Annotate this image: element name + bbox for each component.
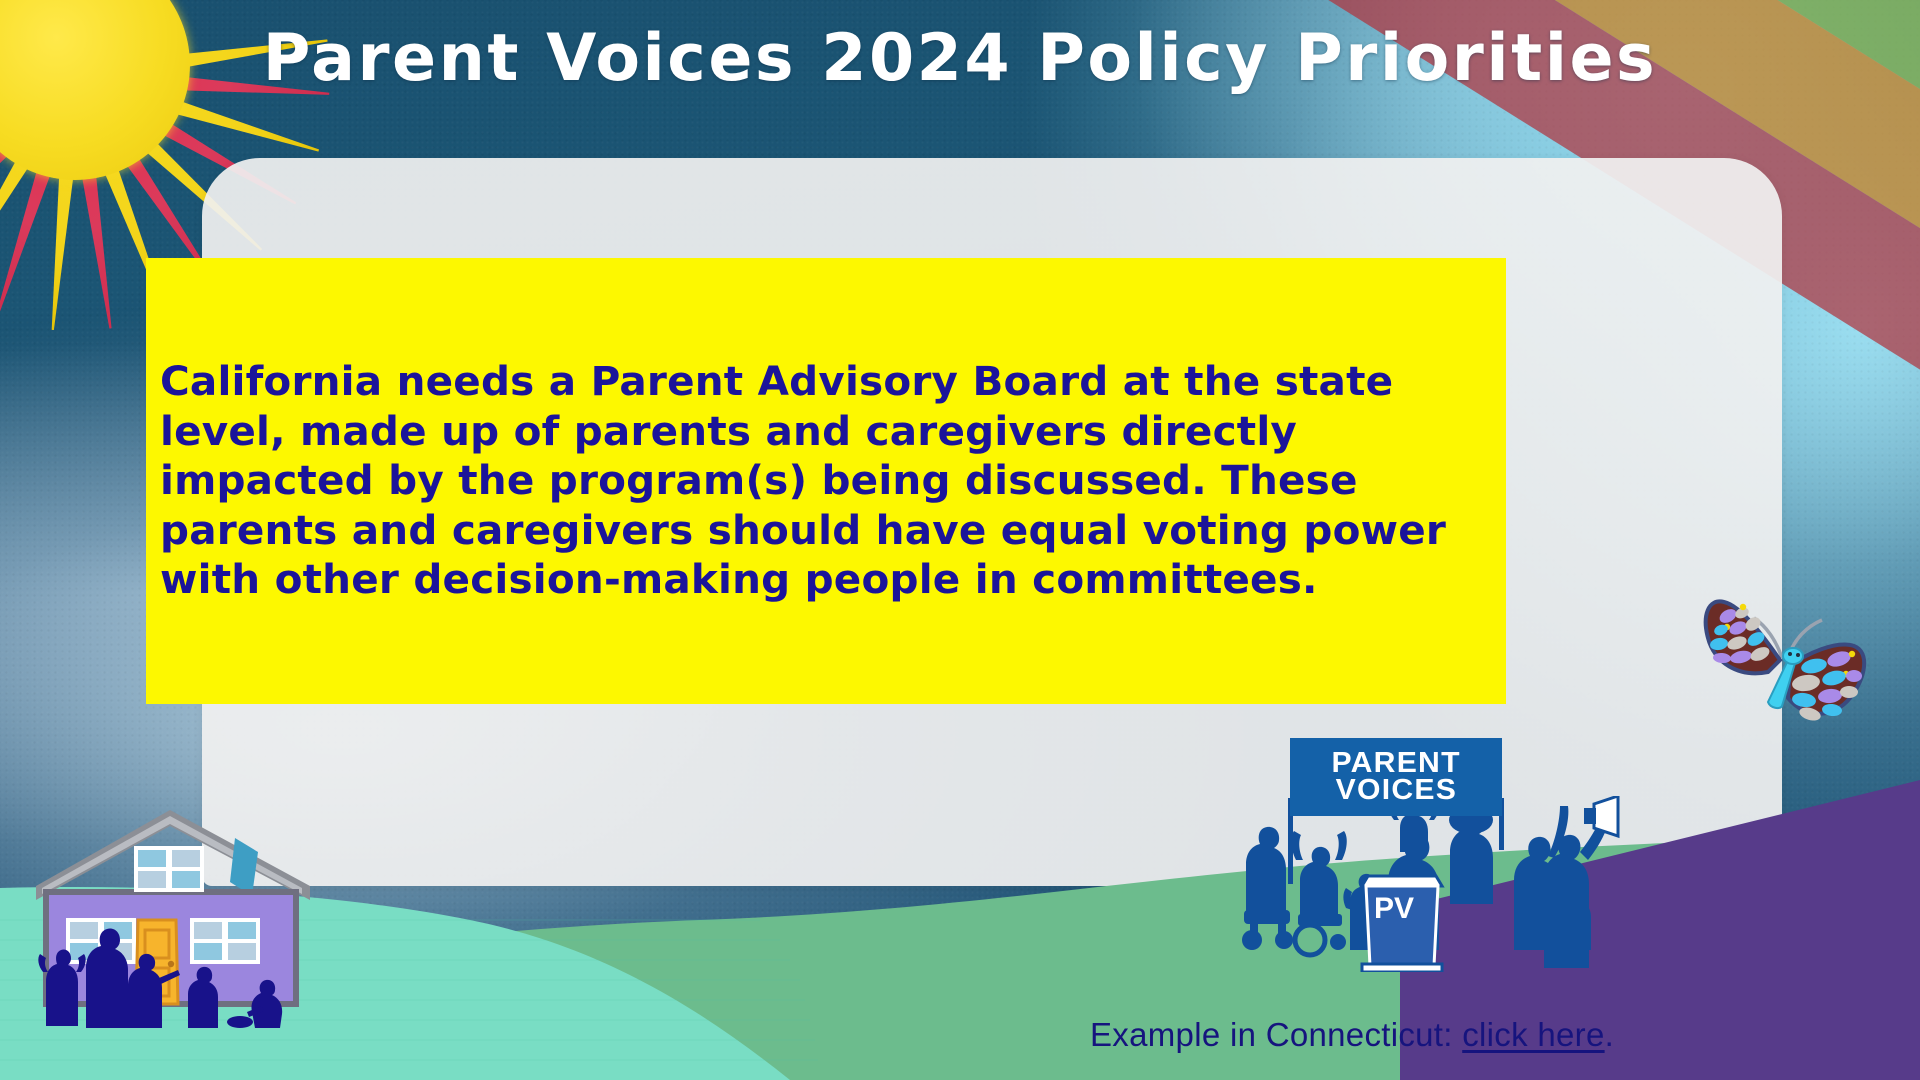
footer-note: Example in Connecticut: click here.: [1090, 1016, 1614, 1054]
children-silhouettes-icon: [28, 908, 328, 1028]
parent-voices-logo: PARENT VOICES: [1290, 738, 1502, 816]
megaphone-icon: [1584, 796, 1618, 836]
click-here-link[interactable]: click here: [1462, 1016, 1604, 1053]
crowd-silhouettes-icon: PARENT VOICES: [1222, 738, 1592, 968]
slide-canvas: PARENT VOICES: [0, 0, 1920, 1080]
page-title: Parent Voices 2024 Policy Priorities: [0, 22, 1920, 97]
callout-box: California needs a Parent Advisory Board…: [146, 258, 1506, 704]
megaphone-person-icon: [1514, 796, 1624, 968]
footer-suffix: .: [1605, 1016, 1614, 1053]
podium-label-p: PV: [1374, 892, 1414, 925]
podium-icon: PV: [1354, 852, 1450, 972]
logo-line-voices: VOICES: [1335, 777, 1456, 804]
butterfly-icon: [1694, 586, 1874, 746]
logo-line-parent: PARENT: [1331, 750, 1460, 777]
footer-prefix: Example in Connecticut:: [1090, 1016, 1462, 1053]
callout-text: California needs a Parent Advisory Board…: [146, 357, 1506, 604]
